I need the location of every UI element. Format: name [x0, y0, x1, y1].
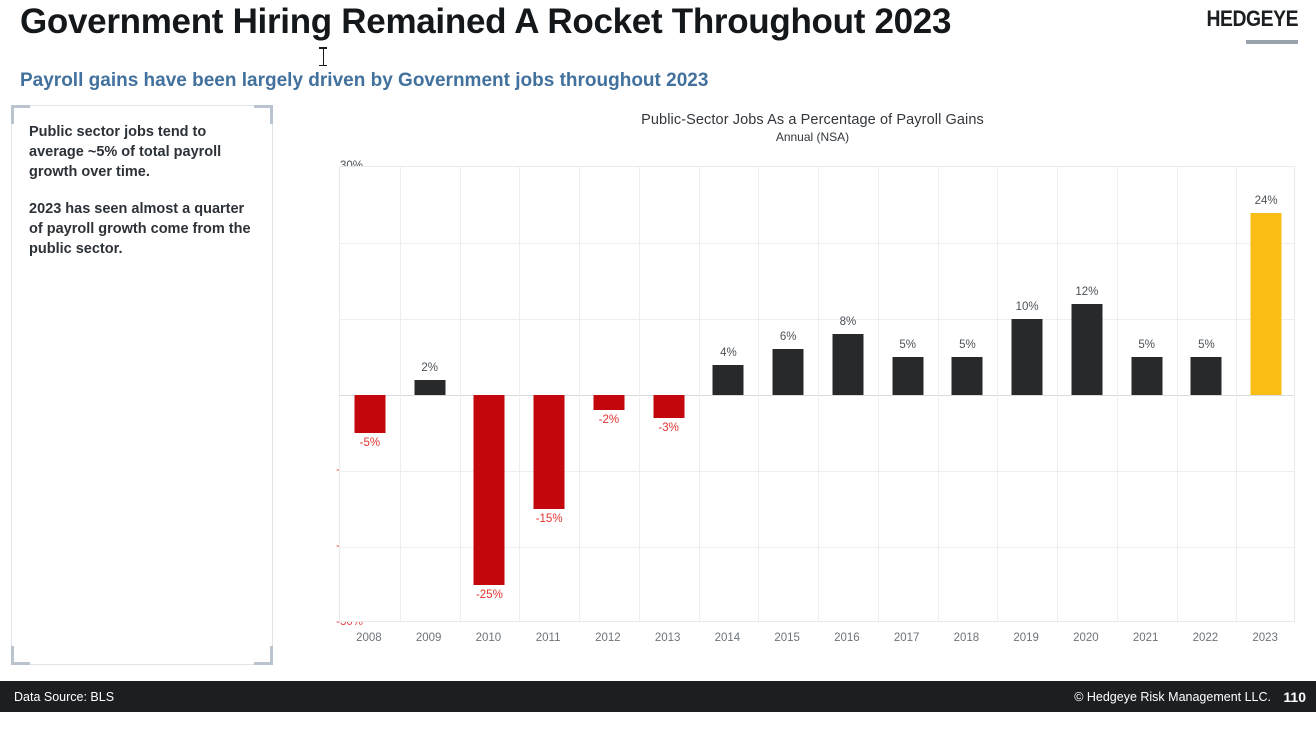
chart: Public-Sector Jobs As a Percentage of Pa… [285, 112, 1295, 642]
bar-value-label-2008: -5% [360, 437, 380, 449]
x-axis-tick-2013: 2013 [638, 632, 698, 644]
bar-slot: 10% [997, 167, 1057, 621]
footer-copyright: © Hedgeye Risk Management LLC. [1074, 690, 1271, 704]
bar-2017[interactable] [892, 357, 923, 395]
bar-2008[interactable] [354, 395, 385, 433]
callout-paragraph-2: 2023 has seen almost a quarter of payrol… [29, 199, 254, 259]
bar-value-label-2012: -2% [599, 414, 619, 426]
x-axis-tick-2010: 2010 [459, 632, 519, 644]
bar-value-label-2015: 6% [780, 331, 797, 343]
page-subtitle: Payroll gains have been largely driven b… [20, 70, 708, 92]
bar-slot: 6% [758, 167, 818, 621]
footer-source: Data Source: BLS [14, 690, 114, 704]
bar-2021[interactable] [1131, 357, 1162, 395]
bar-slot: -2% [579, 167, 639, 621]
x-axis-tick-2017: 2017 [877, 632, 937, 644]
bar-value-label-2016: 8% [840, 316, 857, 328]
bar-slot: 4% [699, 167, 759, 621]
bar-value-label-2020: 12% [1075, 286, 1098, 298]
x-axis-tick-2015: 2015 [757, 632, 817, 644]
bar-2014[interactable] [713, 365, 744, 395]
x-axis-tick-2014: 2014 [698, 632, 758, 644]
bar-slot: 5% [1177, 167, 1237, 621]
x-axis-tick-2019: 2019 [996, 632, 1056, 644]
bar-slot: -5% [340, 167, 400, 621]
corner-bracket-bottom-right [254, 646, 273, 665]
chart-title: Public-Sector Jobs As a Percentage of Pa… [330, 112, 1295, 128]
bar-value-label-2011: -15% [536, 513, 563, 525]
bar-2012[interactable] [593, 395, 624, 410]
bar-2015[interactable] [773, 349, 804, 395]
bar-slot: 12% [1057, 167, 1117, 621]
bar-slot: -15% [519, 167, 579, 621]
bar-slot: -3% [639, 167, 699, 621]
x-axis-tick-2018: 2018 [937, 632, 997, 644]
x-axis-tick-2023: 2023 [1235, 632, 1295, 644]
slide: Government Hiring Remained A Rocket Thro… [0, 0, 1316, 730]
x-axis-tick-2021: 2021 [1116, 632, 1176, 644]
bar-2019[interactable] [1012, 319, 1043, 395]
text-cursor-icon [319, 47, 327, 66]
bar-2011[interactable] [534, 395, 565, 509]
logo-text: HEDGEYE [1206, 8, 1298, 30]
bar-2023[interactable] [1251, 213, 1282, 395]
bar-value-label-2022: 5% [1198, 339, 1215, 351]
corner-bracket-top-left [11, 105, 30, 124]
bar-2022[interactable] [1191, 357, 1222, 395]
x-axis-tick-2012: 2012 [578, 632, 638, 644]
hedgeye-logo: HEDGEYE [1194, 8, 1298, 44]
footer-page-number: 110 [1283, 689, 1306, 705]
bar-value-label-2010: -25% [476, 589, 503, 601]
plot-area: -5%2%-25%-15%-2%-3%4%6%8%5%5%10%12%5%5%2… [339, 166, 1295, 622]
x-axis-tick-2020: 2020 [1056, 632, 1116, 644]
bar-value-label-2013: -3% [658, 422, 678, 434]
bar-slot: 24% [1236, 167, 1296, 621]
bar-2020[interactable] [1071, 304, 1102, 395]
bar-value-label-2018: 5% [959, 339, 976, 351]
corner-bracket-bottom-left [11, 646, 30, 665]
bar-2009[interactable] [414, 380, 445, 395]
footer-bar: Data Source: BLS © Hedgeye Risk Manageme… [0, 681, 1316, 712]
x-axis-tick-2011: 2011 [518, 632, 578, 644]
bar-series: -5%2%-25%-15%-2%-3%4%6%8%5%5%10%12%5%5%2… [340, 167, 1294, 621]
callout-paragraph-1: Public sector jobs tend to average ~5% o… [29, 122, 254, 182]
page-title: Government Hiring Remained A Rocket Thro… [20, 2, 951, 42]
x-axis-tick-2022: 2022 [1176, 632, 1236, 644]
callout-box: Public sector jobs tend to average ~5% o… [11, 105, 273, 665]
bar-2010[interactable] [474, 395, 505, 585]
corner-bracket-top-right [254, 105, 273, 124]
x-axis-tick-2009: 2009 [399, 632, 459, 644]
bar-value-label-2009: 2% [421, 362, 438, 374]
chart-subtitle: Annual (NSA) [330, 130, 1295, 144]
bar-slot: 5% [938, 167, 998, 621]
x-axis-tick-2008: 2008 [339, 632, 399, 644]
plot-area-wrapper: 30%20%10%0%-10%-20%-30% -5%2%-25%-15%-2%… [285, 166, 1295, 642]
bar-value-label-2021: 5% [1138, 339, 1155, 351]
bar-slot: 2% [400, 167, 460, 621]
bar-2013[interactable] [653, 395, 684, 418]
bar-value-label-2017: 5% [899, 339, 916, 351]
bar-value-label-2019: 10% [1016, 301, 1039, 313]
bar-slot: 5% [1117, 167, 1177, 621]
bar-slot: 8% [818, 167, 878, 621]
bar-slot: 5% [878, 167, 938, 621]
bar-slot: -25% [460, 167, 520, 621]
x-axis-tick-2016: 2016 [817, 632, 877, 644]
bar-2016[interactable] [832, 334, 863, 395]
bar-value-label-2023: 24% [1255, 195, 1278, 207]
bar-2018[interactable] [952, 357, 983, 395]
logo-rule [1246, 40, 1298, 44]
bar-value-label-2014: 4% [720, 347, 737, 359]
